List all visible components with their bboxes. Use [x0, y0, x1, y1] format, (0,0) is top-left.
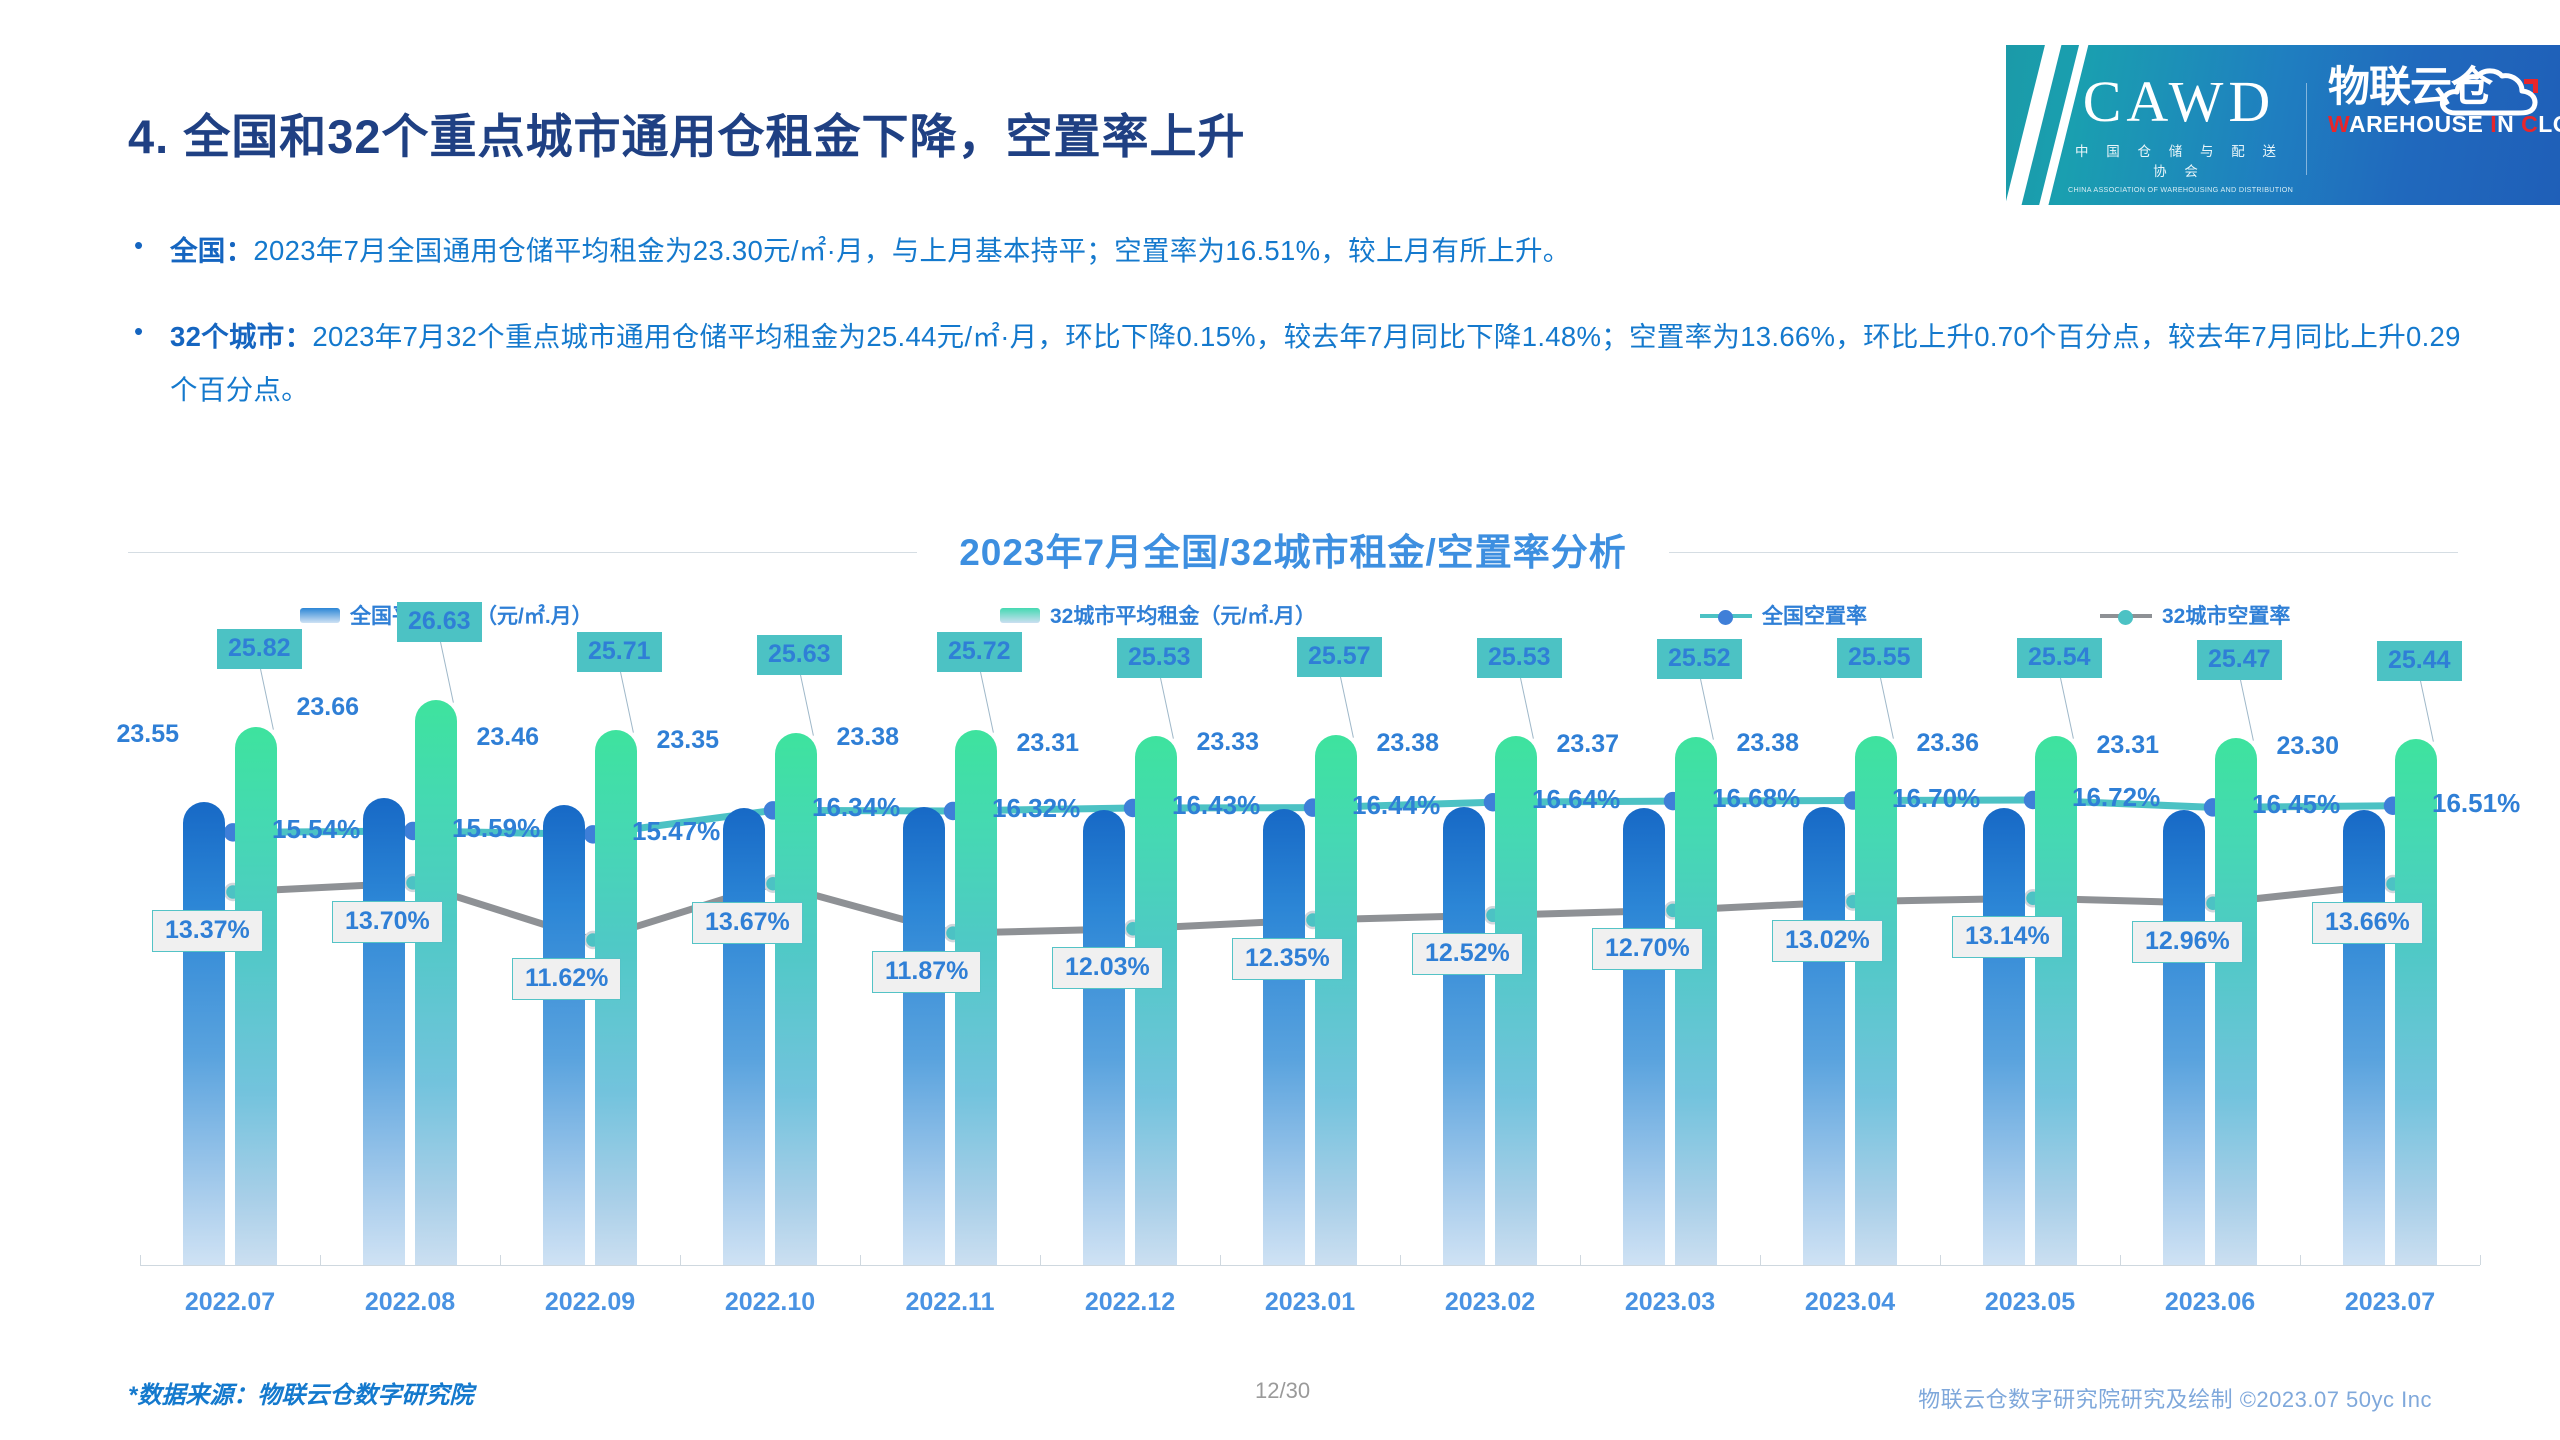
- x-axis-tick: [1580, 1255, 1581, 1265]
- bar-group: 23.6626.6315.59%13.70%: [320, 665, 500, 1265]
- x-axis-line: [140, 1265, 2480, 1266]
- x-axis-label: 2023.02: [1400, 1288, 1580, 1317]
- wic-loud-letters: LOUD: [2538, 111, 2560, 137]
- label-national-rent: 23.37: [1556, 730, 1619, 759]
- callout-leader-line: [800, 675, 814, 736]
- legend-label-2: 32城市平均租金（元/㎡.月）: [1050, 600, 1316, 630]
- logo-divider: [2306, 83, 2307, 175]
- page-title: 4. 全国和32个重点城市通用仓租金下降，空置率上升: [128, 98, 1246, 167]
- label-national-rent: 23.33: [1196, 728, 1259, 757]
- bar-national-rent[interactable]: [1623, 808, 1665, 1265]
- label-national-rent: 23.31: [2096, 731, 2159, 760]
- x-axis-tick: [1760, 1255, 1761, 1265]
- bullet-marker-2: •: [128, 311, 170, 351]
- footer-credit: 物联云仓数字研究院研究及绘制 ©2023.07 50yc Inc: [1918, 1382, 2432, 1414]
- callout-32city-rent: 25.47: [2197, 640, 2282, 680]
- label-national-rent: 23.30: [2276, 732, 2339, 761]
- bar-32city-rent[interactable]: [1675, 737, 1717, 1265]
- bar-national-rent[interactable]: [1263, 809, 1305, 1265]
- chart-title-row: 2023年7月全国/32城市租金/空置率分析: [128, 525, 2458, 579]
- bar-group: 23.3325.5716.44%12.35%: [1220, 665, 1400, 1265]
- bar-national-rent[interactable]: [543, 805, 585, 1265]
- bar-national-rent[interactable]: [2163, 810, 2205, 1265]
- bullet-body-32cities: 2023年7月32个重点城市通用仓储平均租金为25.44元/㎡·月，环比下降0.…: [170, 321, 2461, 404]
- x-axis-label: 2022.12: [1040, 1288, 1220, 1317]
- bar-group: 23.5525.8215.54%13.37%: [140, 665, 320, 1265]
- bullet-text-32cities: 32个城市：2023年7月32个重点城市通用仓储平均租金为25.44元/㎡·月，…: [170, 311, 2468, 416]
- x-axis-tick: [140, 1255, 141, 1265]
- legend-label-3: 全国空置率: [1762, 600, 1867, 630]
- brand-logo-block: CAWD 中 国 仓 储 与 配 送 协 会 CHINA ASSOCIATION…: [2006, 45, 2560, 205]
- x-axis-label: 2022.08: [320, 1288, 500, 1317]
- bar-32city-rent[interactable]: [775, 733, 817, 1265]
- chart-plot-area: 23.5525.8215.54%13.37%23.6626.6315.59%13…: [140, 665, 2480, 1265]
- label-national-rent: 23.46: [476, 723, 539, 752]
- chart-title-rule-right: [1669, 552, 2458, 553]
- x-axis-label: 2022.07: [140, 1288, 320, 1317]
- label-32city-vacancy: 13.67%: [692, 902, 803, 944]
- label-national-rent: 23.36: [1916, 729, 1979, 758]
- x-axis-label: 2023.06: [2120, 1288, 2300, 1317]
- label-national-rent: 23.38: [1376, 729, 1439, 758]
- wic-n-letter: N: [2497, 111, 2514, 137]
- wic-logo: 物联云仓 WAREHOUSE IN CLOUD: [2328, 65, 2552, 138]
- x-axis-tick: [500, 1255, 501, 1265]
- callout-32city-rent: 25.72: [937, 632, 1022, 672]
- legend-swatch-1: [300, 608, 340, 623]
- x-axis-label: 2022.09: [500, 1288, 680, 1317]
- x-axis-tick: [1940, 1255, 1941, 1265]
- wic-arehouse-letters: AREHOUSE: [2349, 111, 2483, 137]
- bullet-label-32cities: 32个城市：: [170, 321, 312, 352]
- bar-32city-rent[interactable]: [1315, 735, 1357, 1265]
- callout-leader-line: [980, 672, 994, 733]
- label-national-rent: 23.38: [836, 723, 899, 752]
- label-national-rent: 23.66: [296, 693, 359, 722]
- bar-group: 23.3725.5216.68%12.70%: [1580, 665, 1760, 1265]
- callout-leader-line: [2060, 678, 2074, 739]
- bar-group: 23.3125.4716.45%12.96%: [2120, 665, 2300, 1265]
- bar-32city-rent[interactable]: [1135, 736, 1177, 1265]
- x-axis-label: 2023.04: [1760, 1288, 1940, 1317]
- label-national-rent: 23.38: [1736, 729, 1799, 758]
- bar-group: 23.3525.6316.34%13.67%: [680, 665, 860, 1265]
- bar-national-rent[interactable]: [1083, 810, 1125, 1265]
- label-32city-vacancy: 12.52%: [1412, 933, 1523, 975]
- bar-national-rent[interactable]: [1803, 807, 1845, 1265]
- wic-chinese-name: 物联云仓: [2328, 65, 2552, 109]
- x-axis-label: 2023.03: [1580, 1288, 1760, 1317]
- bar-group: 23.3825.7216.32%11.87%: [860, 665, 1040, 1265]
- cawd-logo: CAWD 中 国 仓 储 与 配 送 协 会 CHINA ASSOCIATION…: [2068, 73, 2290, 194]
- bar-national-rent[interactable]: [2343, 810, 2385, 1265]
- x-axis-tick: [1400, 1255, 1401, 1265]
- x-axis-tick: [1220, 1255, 1221, 1265]
- wic-c-letter: C: [2521, 111, 2538, 137]
- label-32city-vacancy: 12.96%: [2132, 921, 2243, 963]
- bar-national-rent[interactable]: [903, 807, 945, 1265]
- callout-leader-line: [620, 672, 634, 733]
- bar-national-rent[interactable]: [723, 808, 765, 1265]
- cawd-wordmark: CAWD: [2068, 73, 2290, 131]
- label-32city-vacancy: 12.35%: [1232, 938, 1343, 980]
- bar-group: 23.3825.5516.70%13.02%: [1760, 665, 1940, 1265]
- callout-32city-rent: 25.82: [217, 629, 302, 669]
- bar-group: 23.3125.5316.43%12.03%: [1040, 665, 1220, 1265]
- callout-32city-rent: 25.53: [1477, 638, 1562, 678]
- bar-national-rent[interactable]: [1443, 807, 1485, 1265]
- x-axis-tick: [1040, 1255, 1041, 1265]
- bar-32city-rent[interactable]: [415, 700, 457, 1265]
- bullet-item-national: • 全国：2023年7月全国通用仓储平均租金为23.30元/㎡·月，与上月基本持…: [128, 225, 2468, 277]
- callout-32city-rent: 25.53: [1117, 638, 1202, 678]
- callout-leader-line: [1160, 678, 1174, 739]
- callout-leader-line: [440, 642, 454, 703]
- x-axis-tick: [680, 1255, 681, 1265]
- label-32city-vacancy: 13.70%: [332, 901, 443, 943]
- callout-leader-line: [1700, 679, 1714, 740]
- callout-32city-rent: 25.44: [2377, 641, 2462, 681]
- cawd-english-name: CHINA ASSOCIATION OF WAREHOUSING AND DIS…: [2068, 185, 2290, 194]
- bar-32city-rent[interactable]: [2395, 739, 2437, 1265]
- chart-title-rule-left: [128, 552, 917, 553]
- callout-32city-rent: 25.52: [1657, 639, 1742, 679]
- bar-32city-rent[interactable]: [1855, 736, 1897, 1265]
- callout-32city-rent: 25.63: [757, 635, 842, 675]
- callout-32city-rent: 25.55: [1837, 638, 1922, 678]
- x-axis-tick: [860, 1255, 861, 1265]
- callout-32city-rent: 25.54: [2017, 638, 2102, 678]
- x-axis-tick: [2120, 1255, 2121, 1265]
- label-32city-vacancy: 13.14%: [1952, 916, 2063, 958]
- label-32city-vacancy: 13.66%: [2312, 902, 2423, 944]
- bar-group: 23.3025.4416.51%13.66%: [2300, 665, 2480, 1265]
- chart-title: 2023年7月全国/32城市租金/空置率分析: [917, 522, 1669, 576]
- x-axis-label: 2022.10: [680, 1288, 860, 1317]
- callout-leader-line: [1880, 678, 1894, 739]
- bullet-text-national: 全国：2023年7月全国通用仓储平均租金为23.30元/㎡·月，与上月基本持平；…: [170, 225, 1571, 277]
- bullet-marker: •: [128, 225, 170, 265]
- bullet-body-national: 2023年7月全国通用仓储平均租金为23.30元/㎡·月，与上月基本持平；空置率…: [253, 235, 1570, 266]
- legend-line-marker-4: [2100, 608, 2152, 623]
- legend-line-marker-3: [1700, 608, 1752, 623]
- bar-national-rent[interactable]: [183, 802, 225, 1265]
- x-axis-label: 2023.05: [1940, 1288, 2120, 1317]
- label-national-rent: 23.55: [116, 720, 179, 749]
- x-axis-tick-end: [2480, 1255, 2481, 1265]
- callout-32city-rent: 25.57: [1297, 637, 1382, 677]
- label-32city-vacancy: 13.37%: [152, 910, 263, 952]
- wic-w-letter: W: [2328, 111, 2349, 137]
- label-32city-vacancy: 12.03%: [1052, 947, 1163, 989]
- label-national-rent: 23.31: [1016, 729, 1079, 758]
- bar-national-rent[interactable]: [363, 798, 405, 1265]
- legend-swatch-2: [1000, 608, 1040, 623]
- bar-32city-rent[interactable]: [955, 730, 997, 1265]
- footer-page-number: 12/30: [1255, 1378, 1310, 1404]
- bar-group: 23.3625.5416.72%13.14%: [1940, 665, 2120, 1265]
- legend-label-4: 32城市空置率: [2162, 600, 2290, 630]
- label-32city-vacancy: 12.70%: [1592, 928, 1703, 970]
- callout-leader-line: [2420, 681, 2434, 742]
- legend-item-2[interactable]: 32城市平均租金（元/㎡.月）: [1000, 600, 1316, 630]
- callout-leader-line: [260, 669, 274, 730]
- legend-item-3[interactable]: 全国空置率: [1700, 600, 1867, 630]
- bar-32city-rent[interactable]: [2035, 736, 2077, 1265]
- cawd-chinese-name: 中 国 仓 储 与 配 送 协 会: [2068, 140, 2290, 180]
- bullet-item-32cities: • 32个城市：2023年7月32个重点城市通用仓储平均租金为25.44元/㎡·…: [128, 311, 2468, 416]
- callout-32city-rent: 26.63: [397, 602, 482, 642]
- callout-leader-line: [1520, 678, 1534, 739]
- footer-data-source: *数据来源：物联云仓数字研究院: [128, 1375, 473, 1410]
- callout-leader-line: [2240, 680, 2254, 741]
- x-axis-tick: [2300, 1255, 2301, 1265]
- x-axis-label: 2023.01: [1220, 1288, 1400, 1317]
- bar-group: 23.4625.7115.47%11.62%: [500, 665, 680, 1265]
- label-32city-vacancy: 13.02%: [1772, 920, 1883, 962]
- x-axis-label: 2023.07: [2300, 1288, 2480, 1317]
- label-national-vacancy: 16.51%: [2432, 788, 2520, 819]
- x-axis-label: 2022.11: [860, 1288, 1040, 1317]
- callout-32city-rent: 25.71: [577, 632, 662, 672]
- label-32city-vacancy: 11.87%: [872, 951, 981, 993]
- x-axis-tick: [320, 1255, 321, 1265]
- callout-leader-line: [1340, 677, 1354, 738]
- wic-english-name: WAREHOUSE IN CLOUD: [2328, 111, 2552, 138]
- label-32city-vacancy: 11.62%: [512, 958, 621, 1000]
- legend-item-4[interactable]: 32城市空置率: [2100, 600, 2290, 630]
- bar-32city-rent[interactable]: [235, 727, 277, 1265]
- bar-group: 23.3825.5316.64%12.52%: [1400, 665, 1580, 1265]
- bullet-list: • 全国：2023年7月全国通用仓储平均租金为23.30元/㎡·月，与上月基本持…: [128, 225, 2468, 450]
- bar-32city-rent[interactable]: [1495, 736, 1537, 1265]
- bar-national-rent[interactable]: [1983, 808, 2025, 1265]
- label-national-rent: 23.35: [656, 726, 719, 755]
- bar-32city-rent[interactable]: [2215, 738, 2257, 1265]
- bullet-label-national: 全国：: [170, 235, 253, 266]
